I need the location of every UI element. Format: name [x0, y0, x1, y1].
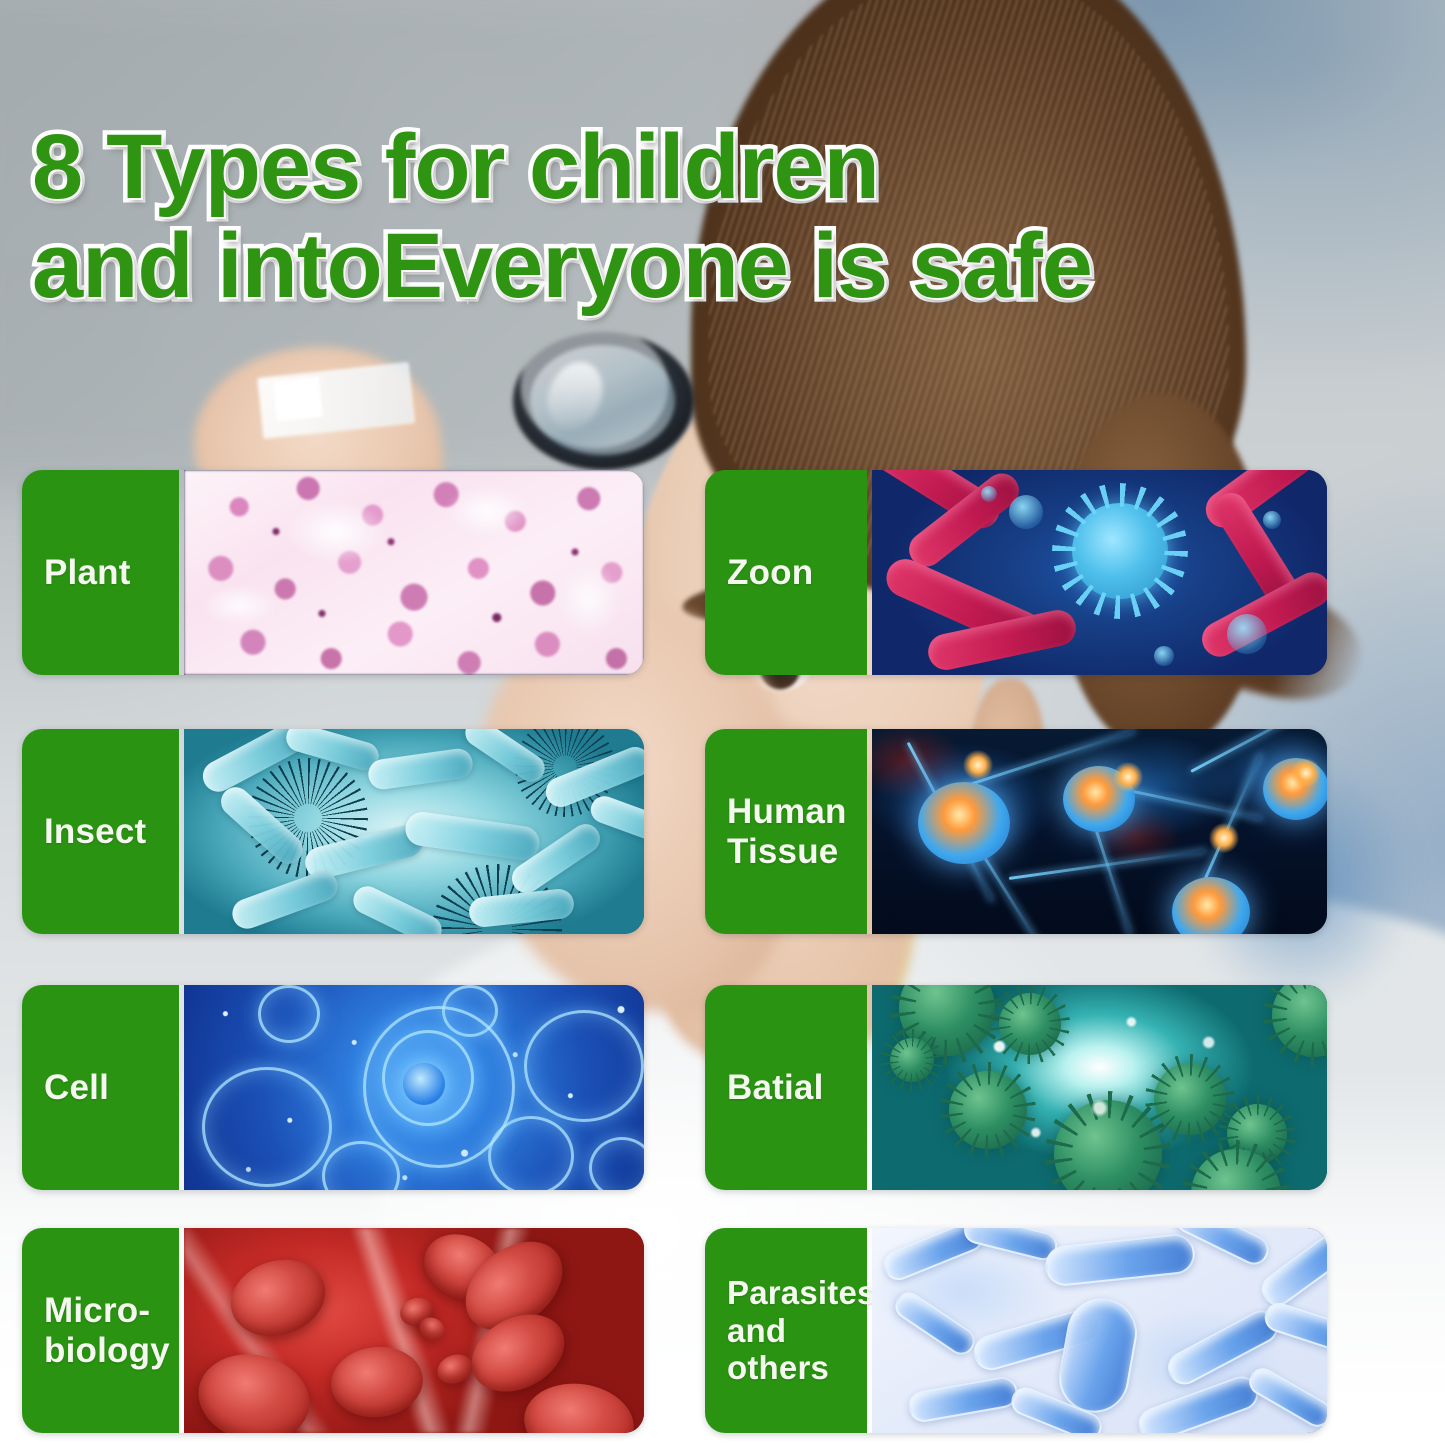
card-label-cell: Cell	[22, 985, 179, 1190]
card-label-parasites: Parasites and others	[705, 1228, 867, 1433]
card-label-microbiology-line2: biology	[44, 1331, 170, 1370]
card-plant[interactable]: Plant	[22, 470, 644, 675]
light-blue-rod-bacteria-image	[872, 1228, 1327, 1433]
card-label-batial: Batial	[705, 985, 867, 1190]
card-label-parasites-line1: Parasites	[727, 1274, 876, 1311]
red-blood-cells-image	[184, 1228, 644, 1433]
blue-cell-structures-image	[184, 985, 644, 1190]
card-label-human-tissue: Human Tissue	[705, 729, 867, 934]
card-label-plant: Plant	[22, 470, 179, 675]
sample-type-grid: Plant Zoon Insect	[0, 0, 1445, 1445]
card-label-human-tissue-line2: Tissue	[727, 832, 838, 871]
card-zoon[interactable]: Zoon	[705, 470, 1327, 675]
green-virus-particles-image	[872, 985, 1327, 1190]
card-label-human-tissue-line1: Human	[727, 792, 847, 831]
card-label-microbiology: Micro- biology	[22, 1228, 179, 1433]
card-insect[interactable]: Insect	[22, 729, 644, 934]
blue-neuron-network-image	[872, 729, 1327, 934]
card-label-insect: Insect	[22, 729, 179, 934]
card-label-parasites-line2: and	[727, 1312, 786, 1349]
card-microbiology[interactable]: Micro- biology	[22, 1228, 644, 1433]
card-batial[interactable]: Batial	[705, 985, 1327, 1190]
card-label-parasites-line3: others	[727, 1349, 829, 1386]
card-parasites[interactable]: Parasites and others	[705, 1228, 1327, 1433]
card-human-tissue[interactable]: Human Tissue	[705, 729, 1327, 934]
card-cell[interactable]: Cell	[22, 985, 644, 1190]
card-label-microbiology-line1: Micro-	[44, 1291, 150, 1330]
pink-histology-tissue-image	[184, 470, 644, 675]
teal-bacilli-microscopy-image	[184, 729, 644, 934]
blue-virus-red-bacteria-image	[872, 470, 1327, 675]
card-label-zoon: Zoon	[705, 470, 867, 675]
